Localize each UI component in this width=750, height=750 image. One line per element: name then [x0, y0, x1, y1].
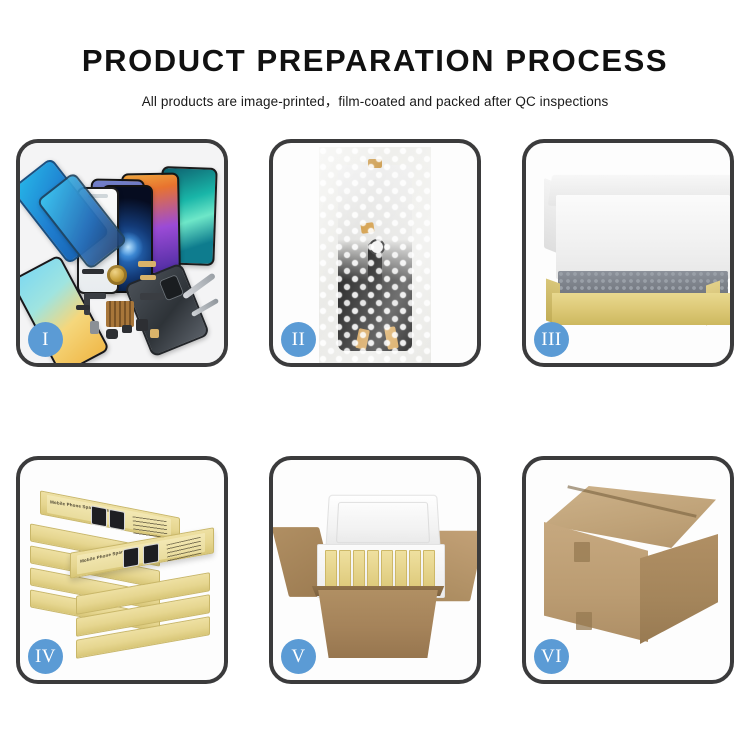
- label-spec-lines-front: [167, 537, 202, 563]
- small-part-connector: [138, 261, 156, 267]
- step-badge-3: III: [534, 322, 569, 357]
- screw-part: [150, 329, 159, 338]
- flex-cable-3: [140, 293, 164, 300]
- carton-tape-upper: [574, 542, 590, 562]
- step-badge-6: VI: [534, 639, 569, 674]
- chip-array-part: [106, 301, 134, 327]
- packed-box: [339, 550, 351, 590]
- label-screen-thumb-2: [109, 509, 125, 531]
- packed-box: [409, 550, 421, 590]
- step-badge-5: V: [281, 639, 316, 674]
- process-step-4[interactable]: Mobile Phone Spare Parts Mobile Phone Sp…: [16, 456, 228, 684]
- antenna-strip-part: [76, 305, 90, 310]
- packed-box: [395, 550, 407, 590]
- label-screen-thumb-4: [143, 543, 159, 565]
- packed-box: [381, 550, 393, 590]
- process-step-grid: I II: [16, 139, 734, 684]
- small-part-connector-2: [140, 275, 156, 280]
- packed-box: [367, 550, 379, 590]
- page-header: PRODUCT PREPARATION PROCESS All products…: [0, 0, 750, 110]
- step-badge-1: I: [28, 322, 63, 357]
- stacked-boxes: Mobile Phone Spare Parts Mobile Phone Sp…: [30, 482, 218, 666]
- carton-side-face: [640, 534, 718, 644]
- carton-tape-lower: [576, 612, 592, 630]
- button-part: [136, 319, 148, 331]
- open-inner-box: [544, 161, 720, 327]
- sim-tray-part: [90, 321, 99, 334]
- camera-module-part: [106, 329, 118, 339]
- flex-cable-2: [84, 293, 106, 299]
- packed-boxes-row: [325, 550, 435, 590]
- box-front-yellow: [552, 293, 730, 325]
- step-badge-2: II: [281, 322, 316, 357]
- process-step-1[interactable]: I: [16, 139, 228, 367]
- carton-body: [313, 590, 443, 658]
- bag-sheen: [319, 147, 431, 363]
- small-part-bar: [82, 269, 104, 274]
- packed-box: [423, 550, 435, 590]
- vibration-motor-part: [122, 325, 132, 333]
- process-step-2[interactable]: II: [269, 139, 481, 367]
- bubble-wrap-bag: [319, 147, 431, 363]
- process-step-3[interactable]: III: [522, 139, 734, 367]
- open-shipping-carton: [283, 478, 473, 668]
- process-step-5[interactable]: V: [269, 456, 481, 684]
- process-step-6[interactable]: VI: [522, 456, 734, 684]
- box-inner-white-lining: [556, 195, 730, 279]
- speaker-coil-part: [107, 265, 127, 285]
- label-screen-thumb-1: [91, 505, 107, 527]
- page-title: PRODUCT PREPARATION PROCESS: [0, 0, 750, 79]
- packed-box: [353, 550, 365, 590]
- page-subtitle: All products are image-printed，film-coat…: [0, 79, 750, 110]
- label-screen-thumb-3: [123, 547, 139, 569]
- sealed-carton: [540, 486, 722, 650]
- packed-box: [325, 550, 337, 590]
- step-badge-4: IV: [28, 639, 63, 674]
